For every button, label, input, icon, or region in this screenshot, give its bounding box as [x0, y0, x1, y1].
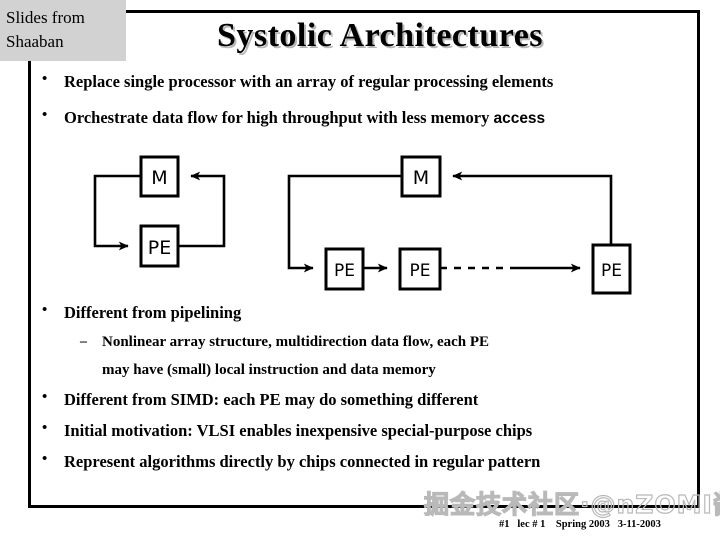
- attribution-box: Slides from Shaaban: [0, 0, 126, 61]
- left-pe-label: PE: [148, 237, 171, 259]
- systolic-architecture-diagram: M PE M PE PE PE: [0, 0, 720, 540]
- attribution-line-2: Shaaban: [6, 30, 122, 54]
- slide-title: Systolic Architectures: [130, 17, 630, 55]
- right-pe3-to-memory-path: [453, 176, 611, 245]
- attribution-line-1: Slides from: [6, 6, 122, 30]
- left-memory-label: M: [151, 167, 167, 189]
- slide-canvas: M PE M PE PE PE Systolic Architect: [0, 0, 720, 540]
- right-memory-label: M: [413, 167, 429, 189]
- slide-footer: #1 lec # 1 Spring 2003 3-11-2003: [499, 519, 661, 530]
- right-array-diagram: M PE PE PE: [289, 157, 630, 293]
- right-pe2-label: PE: [410, 261, 431, 281]
- left-memory-to-pe-path: [95, 176, 141, 246]
- left-pe-to-memory-path: [178, 176, 224, 246]
- watermark-text: 掘金技术社区·@nZOMI酱: [424, 485, 720, 521]
- right-pe1-label: PE: [334, 261, 355, 281]
- left-loop-diagram: M PE: [95, 157, 224, 266]
- right-pe3-label: PE: [601, 261, 622, 281]
